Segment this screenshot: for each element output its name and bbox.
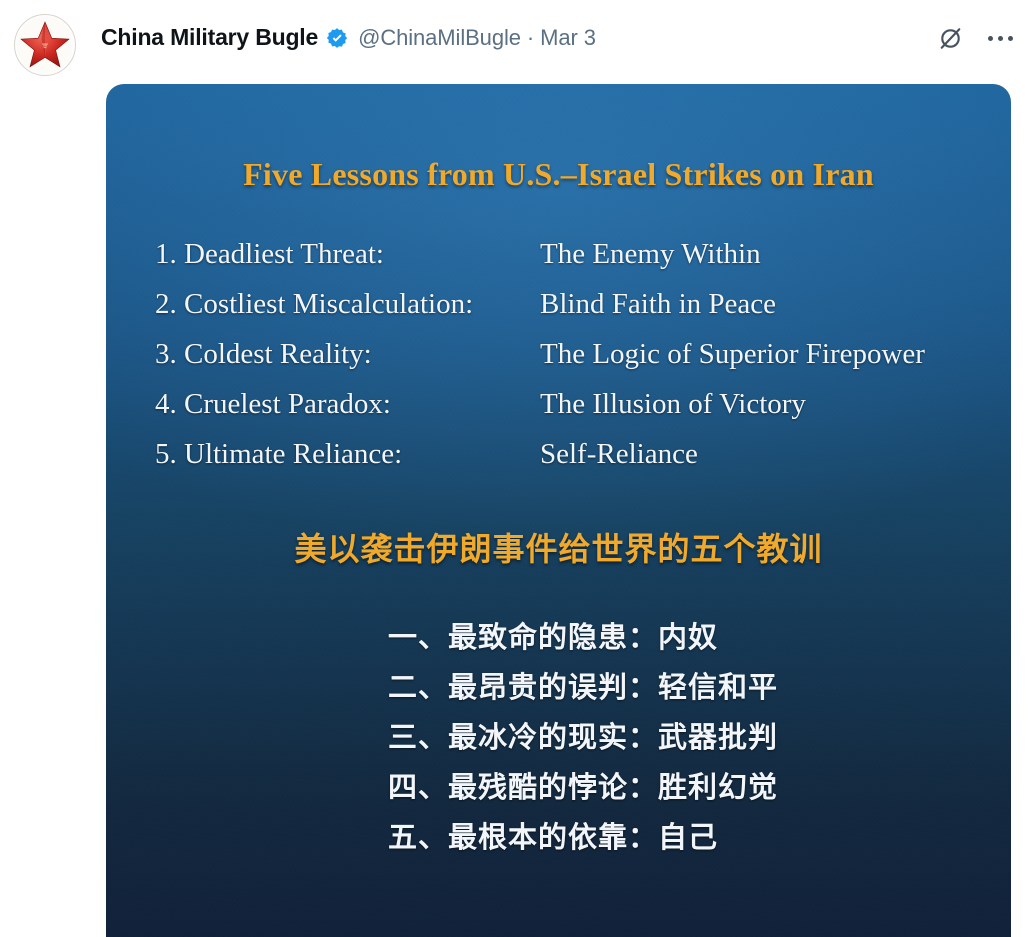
- list-item: 四、 最残酷的悖论：胜利幻觉: [388, 764, 778, 814]
- list-item: 3. Coldest Reality: The Logic of Superio…: [155, 338, 995, 388]
- list-item: 5. Ultimate Reliance: Self-Reliance: [155, 438, 995, 488]
- list-item: 4. Cruelest Paradox: The Illusion of Vic…: [155, 388, 995, 438]
- list-item: 一、 最致命的隐患：内奴: [388, 614, 778, 664]
- lesson-number: 四、: [388, 764, 448, 806]
- list-item: 三、 最冰冷的现实：武器批判: [388, 714, 778, 764]
- lesson-number: 五、: [388, 814, 448, 856]
- grok-icon[interactable]: [934, 22, 966, 54]
- author-line: China Military Bugle @ChinaMilBugle · Ma…: [101, 24, 596, 51]
- lesson-text: 最残酷的悖论：胜利幻觉: [448, 764, 778, 806]
- lesson-text: 最冰冷的现实：武器批判: [448, 714, 778, 756]
- list-item: 五、 最根本的依靠：自己: [388, 814, 778, 864]
- lesson-text: 最根本的依靠：自己: [448, 814, 718, 856]
- english-lessons-list: 1. Deadliest Threat: The Enemy Within 2.…: [155, 238, 995, 488]
- verified-badge-icon[interactable]: [326, 27, 348, 49]
- dot-3: [1008, 36, 1013, 41]
- lesson-label: 5. Ultimate Reliance:: [155, 438, 540, 471]
- post-date: Mar 3: [540, 25, 596, 50]
- lesson-value: The Enemy Within: [540, 238, 995, 271]
- post-header: China Military Bugle @ChinaMilBugle · Ma…: [0, 0, 1028, 84]
- card-content: Five Lessons from U.S.–Israel Strikes on…: [106, 84, 1011, 937]
- author-handle-and-date[interactable]: @ChinaMilBugle · Mar 3: [358, 25, 596, 51]
- list-item: 1. Deadliest Threat: The Enemy Within: [155, 238, 995, 288]
- lesson-value: The Illusion of Victory: [540, 388, 995, 421]
- red-star-emblem-icon: [16, 16, 74, 74]
- post-image-card[interactable]: Five Lessons from U.S.–Israel Strikes on…: [106, 84, 1011, 937]
- dot-2: [998, 36, 1003, 41]
- author-display-name[interactable]: China Military Bugle: [101, 24, 318, 51]
- avatar[interactable]: [14, 14, 76, 76]
- lesson-number: 二、: [388, 664, 448, 706]
- lesson-label: 4. Cruelest Paradox:: [155, 388, 540, 421]
- list-item: 二、 最昂贵的误判：轻信和平: [388, 664, 778, 714]
- lesson-value: Blind Faith in Peace: [540, 288, 995, 321]
- lesson-label: 1. Deadliest Threat:: [155, 238, 540, 271]
- lesson-number: 一、: [388, 614, 448, 656]
- more-options-icon[interactable]: [984, 22, 1016, 54]
- lesson-label: 3. Coldest Reality:: [155, 338, 540, 371]
- dot-1: [988, 36, 993, 41]
- lesson-value: The Logic of Superior Firepower: [540, 338, 995, 371]
- lesson-value: Self-Reliance: [540, 438, 995, 471]
- dot-separator: ·: [527, 25, 534, 50]
- lesson-number: 三、: [388, 714, 448, 756]
- author-handle: @ChinaMilBugle: [358, 25, 521, 50]
- list-item: 2. Costliest Miscalculation: Blind Faith…: [155, 288, 995, 338]
- lesson-text: 最致命的隐患：内奴: [448, 614, 718, 656]
- more-dots: [988, 36, 1013, 41]
- tweet-post: China Military Bugle @ChinaMilBugle · Ma…: [0, 0, 1028, 937]
- lesson-text: 最昂贵的误判：轻信和平: [448, 664, 778, 706]
- slide-title: Five Lessons from U.S.–Israel Strikes on…: [106, 156, 1011, 193]
- chinese-slide-title: 美以袭击伊朗事件给世界的五个教训: [106, 524, 1011, 570]
- chinese-lessons-list: 一、 最致命的隐患：内奴 二、 最昂贵的误判：轻信和平 三、 最冰冷的现实：武器…: [388, 614, 778, 864]
- header-actions: [934, 22, 1016, 54]
- lesson-label: 2. Costliest Miscalculation:: [155, 288, 540, 321]
